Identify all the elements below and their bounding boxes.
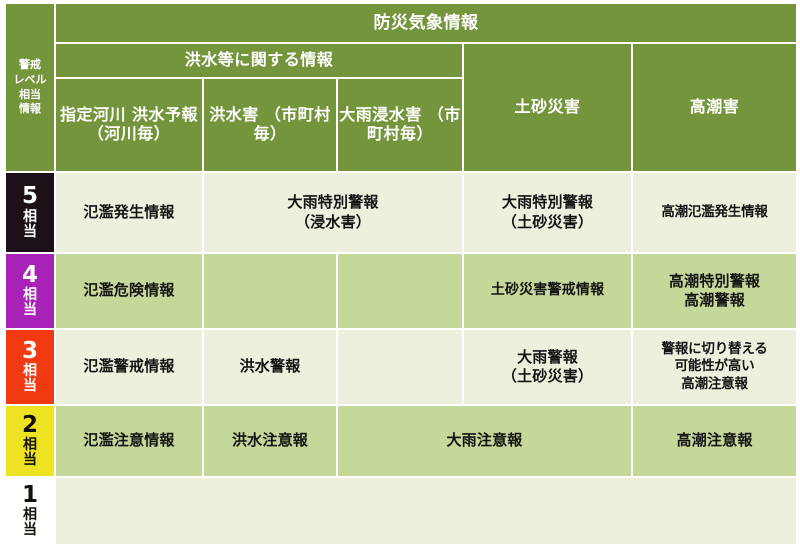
level-badge-3-suffix-line-1: 相: [6, 364, 54, 379]
cell-level3-flood-damage: 洪水警報: [204, 330, 336, 404]
level-badge-1-suffix-line-2: 当: [6, 523, 54, 538]
level-badge-2-number: 2: [6, 414, 54, 437]
table-row-level-2: 2 相 当 氾濫注意情報 洪水注意報 大雨注意報 高潮注意報: [6, 406, 796, 476]
cell-level5-designated-river-line-1: 氾濫発生情報: [56, 203, 202, 223]
cell-level3-designated-river: 氾濫警戒情報: [56, 330, 202, 404]
header-row-top: 警戒 レベル 相当 情報 防災気象情報: [6, 4, 796, 42]
level-badge-4-number: 4: [6, 264, 54, 287]
level-badge-4-suffix-line-1: 相: [6, 288, 54, 303]
level-badge-2-suffix-line-1: 相: [6, 438, 54, 453]
header-row-group: 洪水等に関する情報 土砂災害 高潮害: [6, 44, 796, 77]
cell-level3-sediment-disaster: 大雨警報 （土砂災害）: [464, 330, 631, 404]
cell-level5-heavy-rain-special-inundation-line-1: 大雨特別警報: [204, 193, 462, 213]
cell-level5-sediment-disaster: 大雨特別警報 （土砂災害）: [464, 173, 631, 252]
cell-level4-designated-river: 氾濫危険情報: [56, 254, 202, 328]
level-badge-3-number: 3: [6, 340, 54, 363]
table-row-level-5: 5 相 当 氾濫発生情報 大雨特別警報 （浸水害） 大雨特別警報 （土砂災害）: [6, 173, 796, 252]
warning-level-table-sheet: 警戒 レベル 相当 情報 防災気象情報 洪水等に関する情報 土砂災害 高潮害: [0, 0, 800, 534]
cell-level1-empty: [56, 478, 796, 544]
cell-level4-sediment-disaster: 土砂災害警戒情報: [464, 254, 631, 328]
header-column-sediment-disaster: 土砂災害: [464, 44, 631, 171]
cell-level2-storm-surge-line-1: 高潮注意報: [633, 431, 796, 451]
level-badge-4-suffix-line-2: 当: [6, 303, 54, 318]
row-header-line-3: 相当: [19, 88, 41, 103]
level-badge-1-number: 1: [6, 484, 54, 507]
cell-level3-storm-surge-line-3: 高潮注意報: [633, 376, 796, 394]
cell-level4-heavy-rain-inundation-empty: [338, 254, 462, 328]
cell-level4-designated-river-line-1: 氾濫危険情報: [56, 281, 202, 301]
cell-level3-heavy-rain-inundation-empty: [338, 330, 462, 404]
cell-level2-flood-damage-line-1: 洪水注意報: [204, 431, 336, 451]
row-header-warning-level: 警戒 レベル 相当 情報: [6, 4, 54, 171]
header-title-disaster-weather-info: 防災気象情報: [56, 4, 796, 42]
level-badge-1-suffix-line-1: 相: [6, 508, 54, 523]
cell-level5-heavy-rain-special-inundation: 大雨特別警報 （浸水害）: [204, 173, 462, 252]
level-badge-3-suffix: 相 当: [6, 364, 54, 394]
cell-level4-storm-surge: 高潮特別警報 高潮警報: [633, 254, 796, 328]
header-column-flood-damage: 洪水害 （市町村毎）: [204, 79, 336, 171]
cell-level4-storm-surge-line-1: 高潮特別警報: [633, 272, 796, 292]
level-badge-5-suffix: 相 当: [6, 210, 54, 240]
cell-level3-sediment-disaster-line-1: 大雨警報: [464, 348, 631, 368]
cell-level5-storm-surge-line-1: 高潮氾濫発生情報: [633, 204, 796, 222]
header-column-designated-river-line-1: 指定河川: [60, 105, 126, 124]
row-header-line-4: 情報: [19, 102, 41, 117]
cell-level4-storm-surge-line-2: 高潮警報: [633, 291, 796, 311]
header-column-flood-damage-line-2: （市町村毎）: [253, 105, 330, 143]
cell-level5-sediment-disaster-line-2: （土砂災害）: [464, 213, 631, 233]
cell-level3-storm-surge: 警報に切り替える 可能性が高い 高潮注意報: [633, 330, 796, 404]
header-column-designated-river: 指定河川 洪水予報 （河川毎）: [56, 79, 202, 171]
cell-level4-flood-damage-empty: [204, 254, 336, 328]
table-row-level-1: 1 相 当: [6, 478, 796, 544]
row-header-line-1: 警戒: [19, 58, 41, 73]
cell-level3-flood-damage-line-1: 洪水警報: [204, 357, 336, 377]
cell-level5-heavy-rain-special-inundation-line-2: （浸水害）: [204, 213, 462, 233]
header-column-storm-surge: 高潮害: [633, 44, 796, 171]
level-badge-2-suffix-line-2: 当: [6, 453, 54, 468]
cell-level5-designated-river: 氾濫発生情報: [56, 173, 202, 252]
level-badge-2: 2 相 当: [6, 406, 54, 476]
header-column-designated-river-line-2: 洪水予報: [132, 105, 198, 124]
cell-level3-sediment-disaster-line-2: （土砂災害）: [464, 367, 631, 387]
row-header-line-2: レベル: [14, 73, 47, 88]
cell-level2-heavy-rain-advisory: 大雨注意報: [338, 406, 631, 476]
level-badge-1: 1 相 当: [6, 478, 54, 544]
level-badge-5-suffix-line-1: 相: [6, 210, 54, 225]
cell-level5-sediment-disaster-line-1: 大雨特別警報: [464, 193, 631, 213]
header-column-sediment-disaster-line-1: 土砂災害: [514, 97, 580, 116]
level-badge-5: 5 相 当: [6, 173, 54, 252]
table-row-level-4: 4 相 当 氾濫危険情報 土砂災害警戒情報 高潮特別警報 高潮警報: [6, 254, 796, 328]
cell-level2-designated-river: 氾濫注意情報: [56, 406, 202, 476]
level-badge-4: 4 相 当: [6, 254, 54, 328]
level-badge-4-suffix: 相 当: [6, 288, 54, 318]
table-row-level-3: 3 相 当 氾濫警戒情報 洪水警報 大雨警報 （土砂災害）: [6, 330, 796, 404]
disaster-warning-table: 警戒 レベル 相当 情報 防災気象情報 洪水等に関する情報 土砂災害 高潮害: [4, 2, 798, 546]
header-group-flood-related-info: 洪水等に関する情報: [56, 44, 462, 77]
level-badge-3: 3 相 当: [6, 330, 54, 404]
header-column-heavy-rain-inundation: 大雨浸水害 （市町村毎）: [338, 79, 462, 171]
level-badge-2-suffix: 相 当: [6, 438, 54, 468]
cell-level2-heavy-rain-advisory-line-1: 大雨注意報: [338, 431, 631, 451]
cell-level2-flood-damage: 洪水注意報: [204, 406, 336, 476]
header-column-designated-river-line-3: （河川毎）: [88, 124, 171, 143]
level-badge-3-suffix-line-2: 当: [6, 379, 54, 394]
cell-level3-designated-river-line-1: 氾濫警戒情報: [56, 357, 202, 377]
cell-level3-storm-surge-line-2: 可能性が高い: [633, 358, 796, 376]
cell-level3-storm-surge-line-1: 警報に切り替える: [633, 341, 796, 359]
cell-level5-storm-surge: 高潮氾濫発生情報: [633, 173, 796, 252]
header-column-flood-damage-line-1: 洪水害: [209, 105, 259, 124]
header-column-storm-surge-line-1: 高潮害: [690, 97, 740, 116]
cell-level2-storm-surge: 高潮注意報: [633, 406, 796, 476]
cell-level4-sediment-disaster-line-1: 土砂災害警戒情報: [464, 282, 631, 300]
header-column-heavy-rain-inundation-line-1: 大雨浸水害: [339, 105, 422, 124]
level-badge-5-suffix-line-2: 当: [6, 225, 54, 240]
level-badge-5-number: 5: [6, 185, 54, 208]
cell-level2-designated-river-line-1: 氾濫注意情報: [56, 431, 202, 451]
